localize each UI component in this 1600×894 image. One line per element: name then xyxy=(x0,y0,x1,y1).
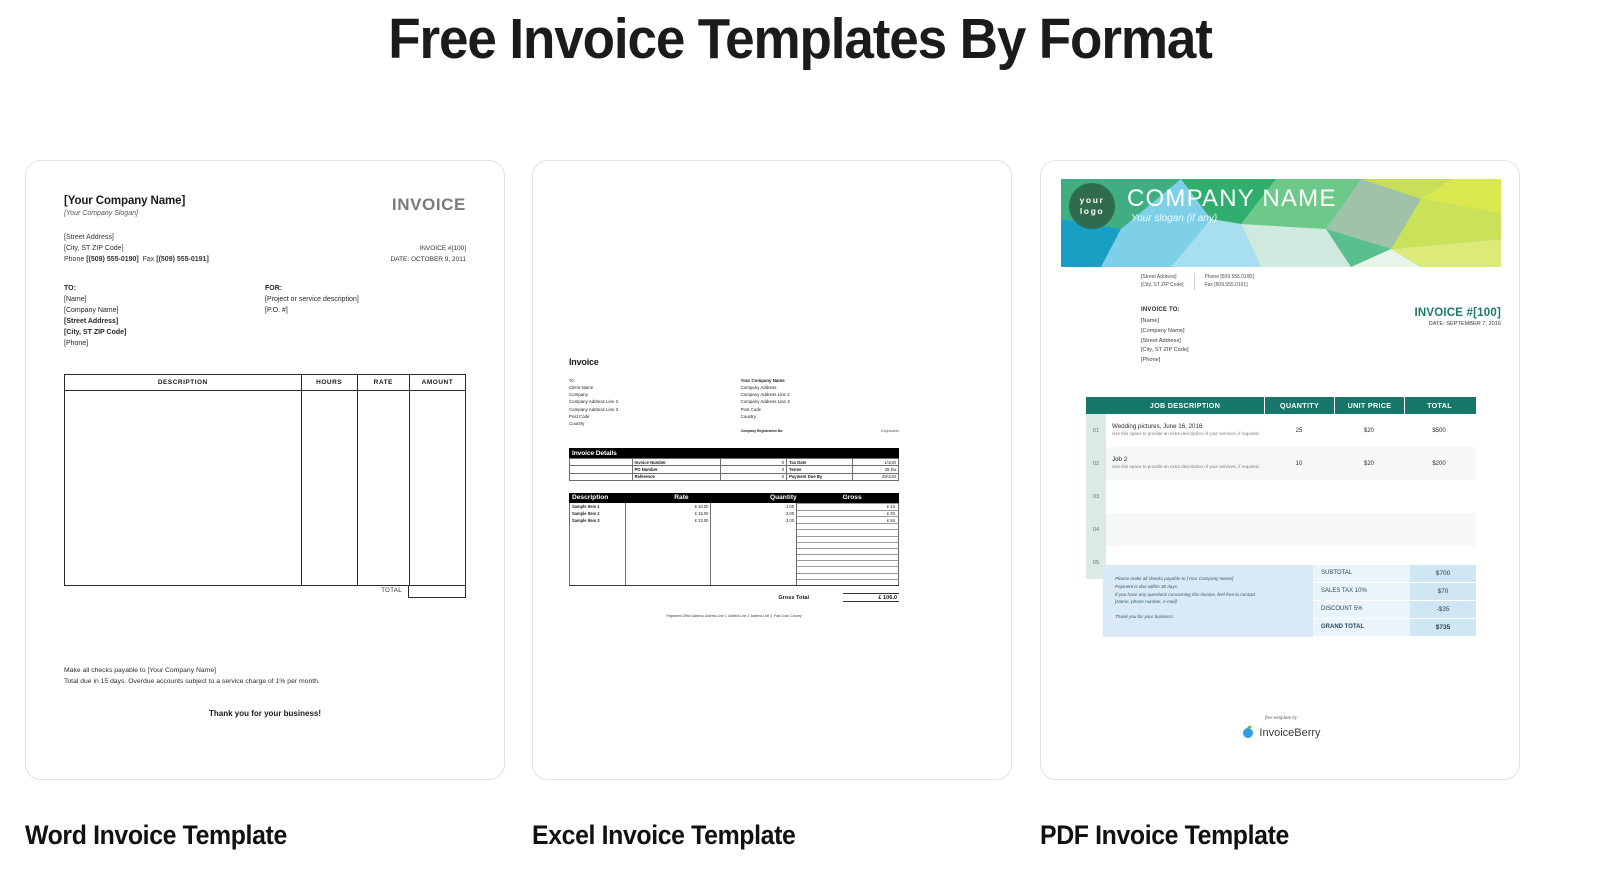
note-line-4: [Name, phone number, e-mail] xyxy=(1115,598,1301,606)
subtotal-label: SUBTOTAL xyxy=(1313,565,1410,582)
to-city: [City, ST ZIP Code] xyxy=(64,327,265,338)
item-gross-2: £ 30. xyxy=(796,510,898,517)
line-items-table: DESCRIPTION HOURS RATE AMOUNT xyxy=(64,374,466,586)
for-label: FOR: xyxy=(265,283,466,294)
cell-quantity: 25 xyxy=(1264,428,1334,434)
company-name: COMPANY NAME xyxy=(1127,185,1337,213)
column-description: Description xyxy=(569,493,671,503)
to-line-3: Company Address Line 2 xyxy=(569,398,741,405)
spacer-cell xyxy=(570,459,633,466)
row-number: 03 xyxy=(1086,480,1106,513)
gross-total-value: £ 106.0 xyxy=(843,593,899,602)
column-quantity: Quantity xyxy=(767,493,840,503)
item-rate-3: £ 22.00 xyxy=(625,517,711,524)
column-hours: HOURS xyxy=(301,374,357,390)
gross-total-row: Gross Total £ 106.0 xyxy=(569,593,899,602)
to-line-5: Post Code xyxy=(569,413,741,420)
bill-to-block: To: Client Name Company Company Address … xyxy=(569,377,741,434)
card-caption-word: Word Invoice Template xyxy=(25,820,287,851)
items-header-row: Description Rate Quantity Gross xyxy=(569,493,899,503)
company-slogan: [Your Company Slogan] xyxy=(64,210,185,217)
to-line-1: Client Name xyxy=(569,384,741,391)
cell-description xyxy=(65,390,302,585)
to-line-2: Company xyxy=(569,391,741,398)
invoice-details-header: Invoice Details xyxy=(569,448,899,458)
row-number: 04 xyxy=(1086,513,1106,546)
detail-label-1: Invoice Number xyxy=(632,459,721,466)
invoice-to-line-4: [City, ST ZIP Code] xyxy=(1141,346,1189,356)
to-label: To: xyxy=(569,377,741,384)
from-line-3: Company Address Line 2 xyxy=(741,391,899,398)
invoice-to-line-2: [Company Name] xyxy=(1141,327,1189,337)
detail-label2-1: Tax Date xyxy=(787,459,853,466)
credit-tagline: free template by xyxy=(1041,716,1520,721)
address-line-2: [City, ST ZIP Code] xyxy=(1141,281,1184,289)
address-block: [Street Address] [City, ST ZIP Code] xyxy=(1141,273,1184,290)
note-line-2: Total due in 15 days. Overdue accounts s… xyxy=(64,677,466,688)
total-label: TOTAL xyxy=(381,588,408,594)
invoice-date: DATE: SEPTEMBER 7, 2016 xyxy=(1414,321,1501,327)
note-line-5: Thank you for your business. xyxy=(1115,613,1301,621)
bill-to-block: TO: [Name] [Company Name] [Street Addres… xyxy=(64,283,265,350)
to-line-6: Country xyxy=(569,420,741,427)
invoice-title: Invoice xyxy=(569,357,899,367)
column-index xyxy=(1086,397,1106,414)
cell-rate xyxy=(357,390,409,585)
job-title: Job 2 xyxy=(1112,456,1264,463)
job-title: Wedding pictures, June 16, 2016 xyxy=(1112,423,1264,430)
to-name: [Name] xyxy=(64,294,265,305)
note-line-2: Payment is due within 30 days. xyxy=(1115,583,1301,591)
registration-value: If Applicable xyxy=(881,429,899,435)
total-row: TOTAL xyxy=(64,585,466,598)
logo-placeholder: your logo xyxy=(1069,183,1115,229)
grand-total-label: GRAND TOTAL xyxy=(1313,619,1410,636)
for-description: [Project or service description] xyxy=(265,294,466,305)
fax-label: Fax xyxy=(143,256,155,263)
invoice-to-block: INVOICE TO: [Name] [Company Name] [Stree… xyxy=(1141,307,1189,366)
item-rate-1: £ 10.00 xyxy=(625,503,711,510)
totals-row: SALES TAX 10% $70 xyxy=(1313,583,1476,601)
summary-section: Please make all checks payable to [Your … xyxy=(1103,565,1476,637)
pdf-invoice-preview: your logo COMPANY NAME Your slogan (if a… xyxy=(1041,161,1519,779)
invoice-header: INVOICE TO: [Name] [Company Name] [Stree… xyxy=(1141,307,1501,366)
totals-table: SUBTOTAL $700 SALES TAX 10% $70 DISCOUNT… xyxy=(1313,565,1476,637)
table-row: Sample Item 3 £ 22.00 3.00 £ 66. xyxy=(570,517,899,524)
row-number: 01 xyxy=(1086,414,1106,447)
sales-tax-label: SALES TAX 10% xyxy=(1313,583,1410,600)
column-total: TOTAL xyxy=(1404,397,1474,414)
cell-unit-price: $20 xyxy=(1334,428,1404,434)
berry-icon xyxy=(1241,725,1254,741)
fax-value: [(509) 555-0191] xyxy=(156,256,209,263)
invoice-to-line-3: [Street Address] xyxy=(1141,337,1189,347)
detail-value-2: 0 xyxy=(721,466,787,473)
invoice-to-line-1: [Name] xyxy=(1141,317,1189,327)
invoice-number: INVOICE #[100] xyxy=(1414,307,1501,319)
to-phone: [Phone] xyxy=(64,338,265,349)
totals-row: DISCOUNT 5% -$35 xyxy=(1313,601,1476,619)
invoice-to-body: [Name] [Company Name] [Street Address] [… xyxy=(1141,317,1189,366)
table-header-row: JOB DESCRIPTION QUANTITY UNIT PRICE TOTA… xyxy=(1086,397,1476,414)
item-qty-3: 3.00 xyxy=(711,517,797,524)
item-desc-2: Sample Item 2 xyxy=(570,510,626,517)
phone-block: Phone [509.555.0190] Fax [509.555.0191] xyxy=(1205,273,1254,290)
invoice-meta: INVOICE #[100] DATE: SEPTEMBER 7, 2016 xyxy=(1414,307,1501,366)
company-name: [Your Company Name] xyxy=(64,195,185,207)
detail-label2-3: Payment Due By xyxy=(787,473,853,480)
totals-row: GRAND TOTAL $735 xyxy=(1313,619,1476,637)
note-line-1: Please make all checks payable to [Your … xyxy=(1115,575,1301,583)
from-line-6: Country xyxy=(741,413,899,420)
to-label: TO: xyxy=(64,283,265,294)
detail-value2-2: 28 Da xyxy=(852,466,898,473)
phone-value: Phone [509.555.0190] xyxy=(1205,273,1254,281)
note-text-1: Please make all checks payable to [Your … xyxy=(1115,576,1233,581)
table-row xyxy=(570,579,899,585)
invoiceberry-logo: InvoiceBerry xyxy=(1241,725,1320,741)
row-number: 02 xyxy=(1086,447,1106,480)
payment-notes: Please make all checks payable to [Your … xyxy=(1103,565,1313,637)
item-gross-3: £ 66. xyxy=(796,517,898,524)
word-invoice-preview: [Your Company Name] [Your Company Slogan… xyxy=(26,161,504,779)
table-row: Sample Item 2 £ 15.00 2.00 £ 30. xyxy=(570,510,899,517)
divider xyxy=(1194,273,1195,290)
table-row: Reference 0 Payment Due By 29/1/20 xyxy=(570,473,899,480)
item-rate-2: £ 15.00 xyxy=(625,510,711,517)
detail-value-3: 0 xyxy=(721,473,787,480)
detail-label-3: Reference xyxy=(632,473,721,480)
table-row: Sample Item 1 £ 10.00 1.00 £ 10. xyxy=(570,503,899,510)
from-line-4: Company Address Line 3 xyxy=(741,398,899,405)
berry-name: InvoiceBerry xyxy=(1259,727,1320,739)
address-line-1: [Street Address] xyxy=(64,233,209,244)
table-row: 04 xyxy=(1086,513,1476,546)
to-company: [Company Name] xyxy=(64,305,265,316)
cell-job-description: Wedding pictures, June 16, 2016 Use this… xyxy=(1106,419,1264,441)
column-gross: Gross xyxy=(840,493,899,503)
cell-unit-price: $20 xyxy=(1334,461,1404,467)
cell-hours xyxy=(301,390,357,585)
cell-total: $200 xyxy=(1404,461,1474,467)
line-items-table: Sample Item 1 £ 10.00 1.00 £ 10. Sample … xyxy=(569,503,899,586)
column-job-description: JOB DESCRIPTION xyxy=(1106,397,1264,414)
for-block: FOR: [Project or service description] [P… xyxy=(265,283,466,350)
discount-value: -$35 xyxy=(1410,601,1476,618)
address-line-2: [City, ST ZIP Code] xyxy=(64,244,209,255)
sender-block: Your Company Name Company Address Compan… xyxy=(741,377,899,434)
invoice-number: INVOICE #[100] xyxy=(391,243,467,254)
column-quantity: QUANTITY xyxy=(1264,397,1334,414)
invoice-details-table: Invoice Number 0 Tax Date 1/1/20 PO Numb… xyxy=(569,458,899,481)
table-header-row: DESCRIPTION HOURS RATE AMOUNT xyxy=(65,374,466,390)
column-rate: Rate xyxy=(671,493,767,503)
spacer-cell xyxy=(570,466,633,473)
job-subtitle: Use this space to provide an extra descr… xyxy=(1112,431,1264,437)
phone-label: Phone xyxy=(64,256,84,263)
from-line-5: Post Code xyxy=(741,406,899,413)
detail-label-2: PO Number xyxy=(632,466,721,473)
gross-total-label: Gross Total xyxy=(778,595,809,601)
table-row: PO Number 0 Terms 28 Da xyxy=(570,466,899,473)
table-row: 01 Wedding pictures, June 16, 2016 Use t… xyxy=(1086,414,1476,447)
table-row: 03 xyxy=(1086,480,1476,513)
registered-office-footer: Registered Office Address: Address Line … xyxy=(569,614,899,618)
from-line-2: Company Address xyxy=(741,384,899,391)
excel-invoice-preview: Invoice To: Client Name Company Company … xyxy=(569,357,899,618)
to-line-4: Company Address Line 3 xyxy=(569,406,741,413)
cell-amount xyxy=(409,390,465,585)
column-description: DESCRIPTION xyxy=(65,374,302,390)
detail-value2-3: 29/1/20 xyxy=(852,473,898,480)
company-slogan: Your slogan (if any) xyxy=(1131,213,1217,224)
invoiceberry-credit: free template by InvoiceBerry xyxy=(1041,716,1520,743)
grand-total-value: $735 xyxy=(1410,619,1476,636)
cell-quantity: 10 xyxy=(1264,461,1334,467)
subtotal-value: $700 xyxy=(1410,565,1476,582)
detail-label2-2: Terms xyxy=(787,466,853,473)
phone-fax-line: Phone [(509) 555-0190] Fax [(509) 555-01… xyxy=(64,255,209,266)
logo-line-2: logo xyxy=(1080,206,1104,217)
item-gross-1: £ 10. xyxy=(796,503,898,510)
payment-notes: Make all checks payable to [Your Company… xyxy=(64,666,466,688)
page-title: Free Invoice Templates By Format xyxy=(56,6,1544,72)
invoice-to-label: INVOICE TO: xyxy=(1141,307,1189,313)
cell-job-description: Job 2 Use this space to provide an extra… xyxy=(1106,452,1264,474)
detail-value-1: 0 xyxy=(721,459,787,466)
table-row: Invoice Number 0 Tax Date 1/1/20 xyxy=(570,459,899,466)
template-card-excel[interactable]: Invoice To: Client Name Company Company … xyxy=(532,160,1012,780)
phone-value: [(509) 555-0190] xyxy=(86,256,139,263)
card-caption-excel: Excel Invoice Template xyxy=(532,820,795,851)
thank-you-note: Thank you for your business! xyxy=(64,709,466,718)
detail-value2-1: 1/1/20 xyxy=(852,459,898,466)
logo-line-1: your xyxy=(1080,195,1105,206)
note-line-1: Make all checks payable to [Your Company… xyxy=(64,666,466,677)
spacer-cell xyxy=(570,473,633,480)
column-rate: RATE xyxy=(357,374,409,390)
total-value-box xyxy=(408,585,466,598)
item-desc-3: Sample Item 3 xyxy=(570,517,626,524)
note-line-3: If you have any questions concerning thi… xyxy=(1115,591,1301,599)
column-amount: AMOUNT xyxy=(409,374,465,390)
invoice-meta: INVOICE #[100] DATE: OCTOBER 9, 2011 xyxy=(391,243,467,266)
address-line-1: [Street Address] xyxy=(1141,273,1184,281)
totals-row: SUBTOTAL $700 xyxy=(1313,565,1476,583)
invoice-heading: INVOICE xyxy=(392,195,466,215)
item-desc-1: Sample Item 1 xyxy=(570,503,626,510)
registration-line: Company Registration No: If Applicable xyxy=(741,429,899,435)
template-card-word[interactable]: [Your Company Name] [Your Company Slogan… xyxy=(25,160,505,780)
invoice-date: DATE: OCTOBER 9, 2011 xyxy=(391,254,467,265)
to-street: [Street Address] xyxy=(64,316,265,327)
item-qty-1: 1.00 xyxy=(711,503,797,510)
invoice-to-line-5: [Phone] xyxy=(1141,356,1189,366)
from-line-1: Your Company Name xyxy=(741,377,899,384)
sales-tax-value: $70 xyxy=(1410,583,1476,600)
line-items-table: JOB DESCRIPTION QUANTITY UNIT PRICE TOTA… xyxy=(1086,397,1476,579)
table-row: 02 Job 2 Use this space to provide an ex… xyxy=(1086,447,1476,480)
job-subtitle: Use this space to provide an extra descr… xyxy=(1112,464,1264,470)
card-caption-pdf: PDF Invoice Template xyxy=(1040,820,1289,851)
discount-label: DISCOUNT 5% xyxy=(1313,601,1410,618)
sender-address: [Street Address] [City, ST ZIP Code] Pho… xyxy=(64,233,209,266)
contact-bar: [Street Address] [City, ST ZIP Code] Pho… xyxy=(1141,273,1254,290)
cell-total: $500 xyxy=(1404,428,1474,434)
template-card-grid: [Your Company Name] [Your Company Slogan… xyxy=(0,160,1600,785)
column-unit-price: UNIT PRICE xyxy=(1334,397,1404,414)
template-card-pdf[interactable]: your logo COMPANY NAME Your slogan (if a… xyxy=(1040,160,1520,780)
for-po: [P.O. #] xyxy=(265,305,466,316)
table-row xyxy=(65,390,466,585)
item-qty-2: 2.00 xyxy=(711,510,797,517)
fax-value: Fax [509.555.0191] xyxy=(1205,281,1254,289)
registration-label: Company Registration No: xyxy=(741,429,784,435)
